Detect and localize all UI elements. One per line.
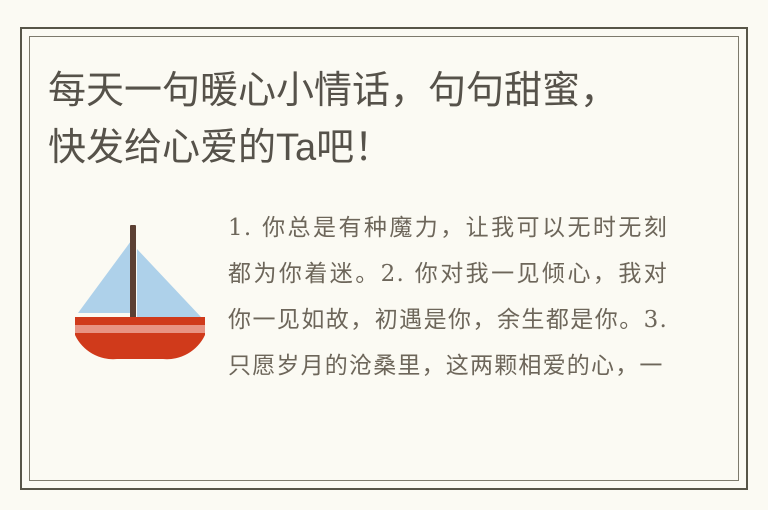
hull-shape <box>75 317 205 359</box>
article-card: 每天一句暖心小情话，句句甜蜜，快发给心爱的Ta吧！ 1. 你总是有种魔力，让我可… <box>0 0 768 510</box>
left-sail-shape <box>78 241 131 313</box>
page-title-text: 每天一句暖心小情话，句句甜蜜，快发给心爱的Ta吧！ <box>48 63 648 177</box>
hull-stripe-shape <box>75 325 205 333</box>
page-title: 每天一句暖心小情话，句句甜蜜，快发给心爱的Ta吧！ <box>48 63 648 177</box>
sailboat-icon <box>70 213 210 363</box>
sailboat-graphic <box>70 213 210 363</box>
body-text-paragraph: 1. 你总是有种魔力，让我可以无时无刻都为你着迷。2. 你对我一见倾心，我对你一… <box>228 205 668 389</box>
right-sail-shape <box>137 249 201 317</box>
mast-shape <box>130 225 136 329</box>
body-text-block: 1. 你总是有种魔力，让我可以无时无刻都为你着迷。2. 你对我一见倾心，我对你一… <box>228 205 668 389</box>
content-row: 1. 你总是有种魔力，让我可以无时无刻都为你着迷。2. 你对我一见倾心，我对你一… <box>48 205 708 470</box>
